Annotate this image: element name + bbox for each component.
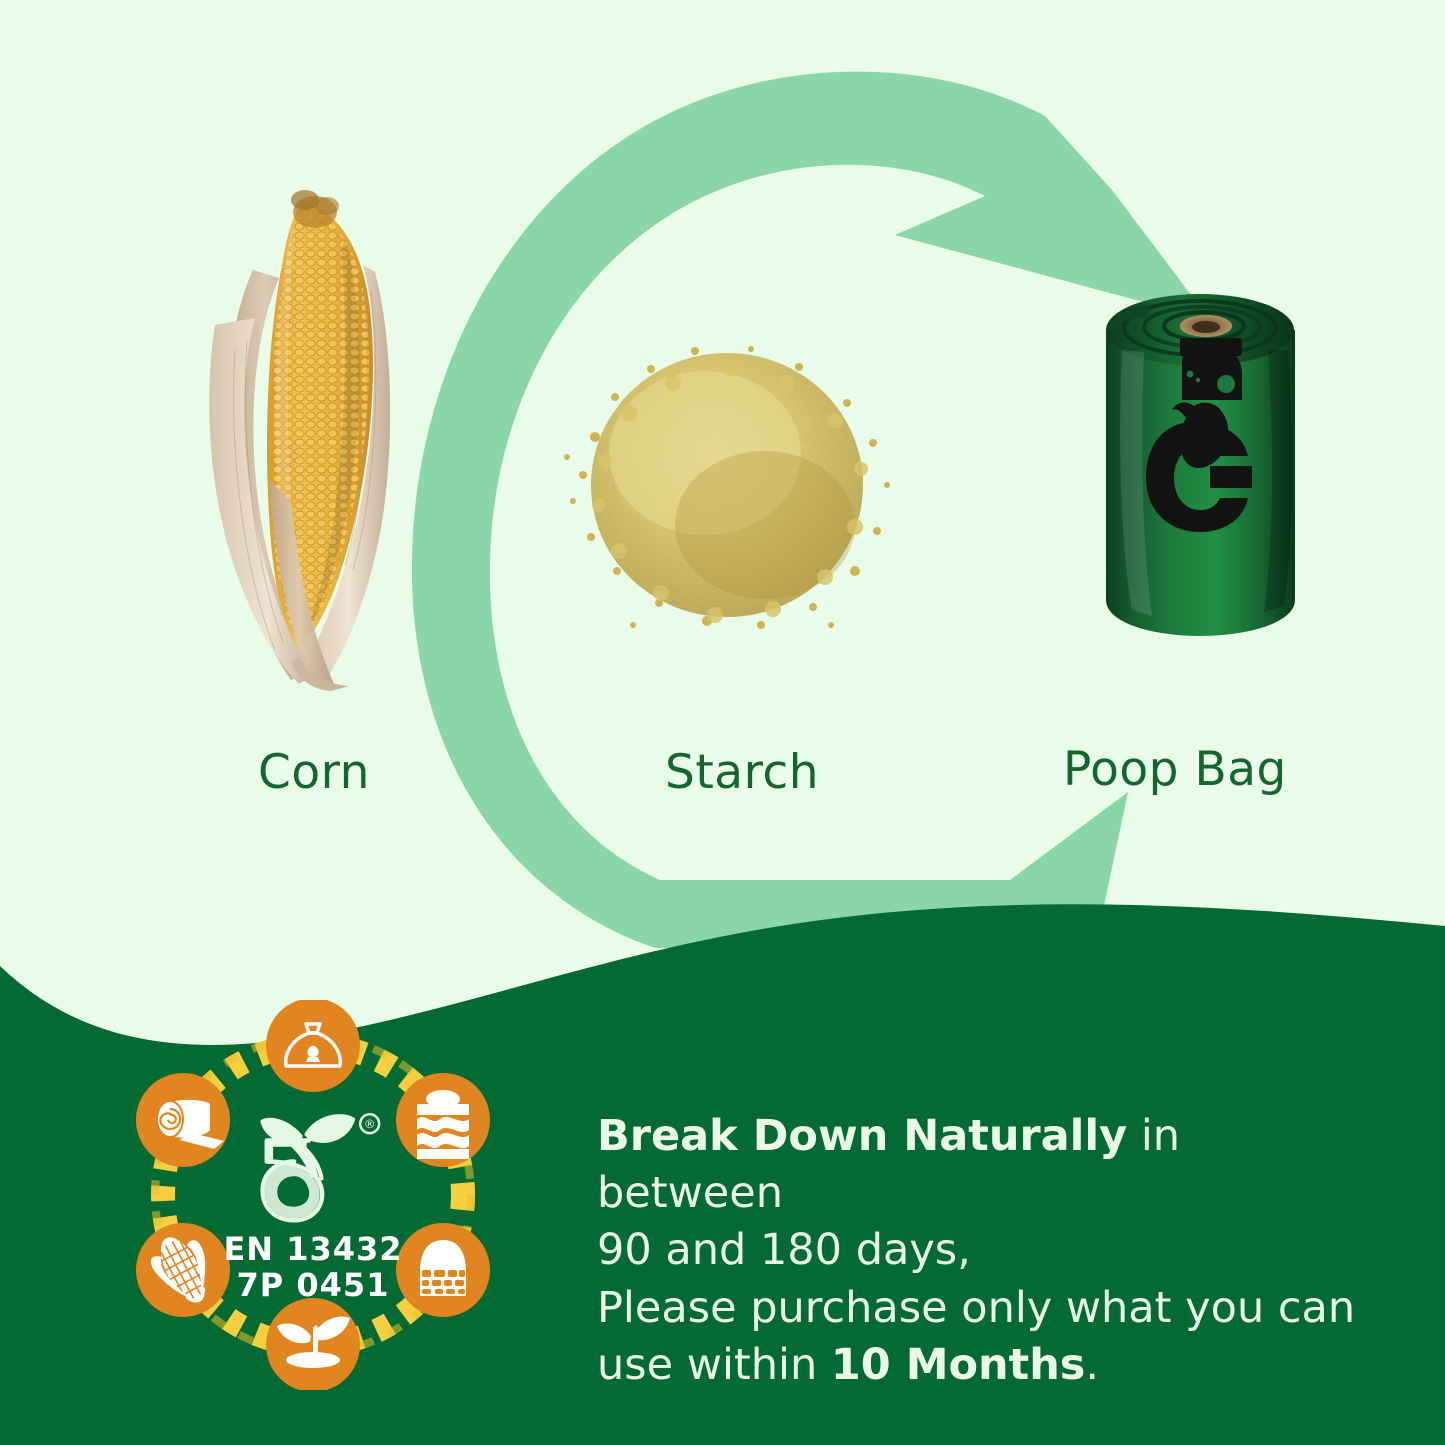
claim-line3: Please purchase only what you can (597, 1283, 1355, 1333)
claim-line2: 90 and 180 days, (597, 1225, 971, 1275)
ring-icon-waste-bag (266, 1000, 360, 1092)
certification-standard-line1: EN 13432 (118, 1232, 508, 1268)
certification-standard-line2: 7P 0451 (118, 1268, 508, 1304)
step-label-poop-bag: Poop Bag (1063, 742, 1287, 797)
corn-cob-photo (195, 150, 420, 695)
compostable-certification-badge: ® EN 13432 7P 0451 (118, 1000, 508, 1390)
seedling-compostable-logo: ® (263, 1114, 380, 1220)
claim-line4-suffix: . (1085, 1340, 1099, 1390)
infographic-canvas: Corn Starch Poop Bag (0, 0, 1445, 1445)
poop-bag-roll-photo (1098, 270, 1303, 645)
biodegradation-claim-text: Break Down Naturally in between 90 and 1… (597, 1108, 1377, 1394)
ring-icon-water-layers (396, 1073, 490, 1167)
claim-line4-bold: 10 Months (831, 1340, 1086, 1390)
starch-powder-photo (555, 325, 905, 640)
claim-line4-prefix: use within (597, 1340, 831, 1390)
registered-symbol: ® (364, 1117, 376, 1131)
step-label-corn: Corn (258, 745, 370, 800)
step-label-starch: Starch (665, 745, 819, 800)
ring-icon-bag-roll (136, 1073, 230, 1167)
claim-lead-bold: Break Down Naturally (597, 1111, 1127, 1161)
ring-icon-sprout (266, 1298, 360, 1390)
